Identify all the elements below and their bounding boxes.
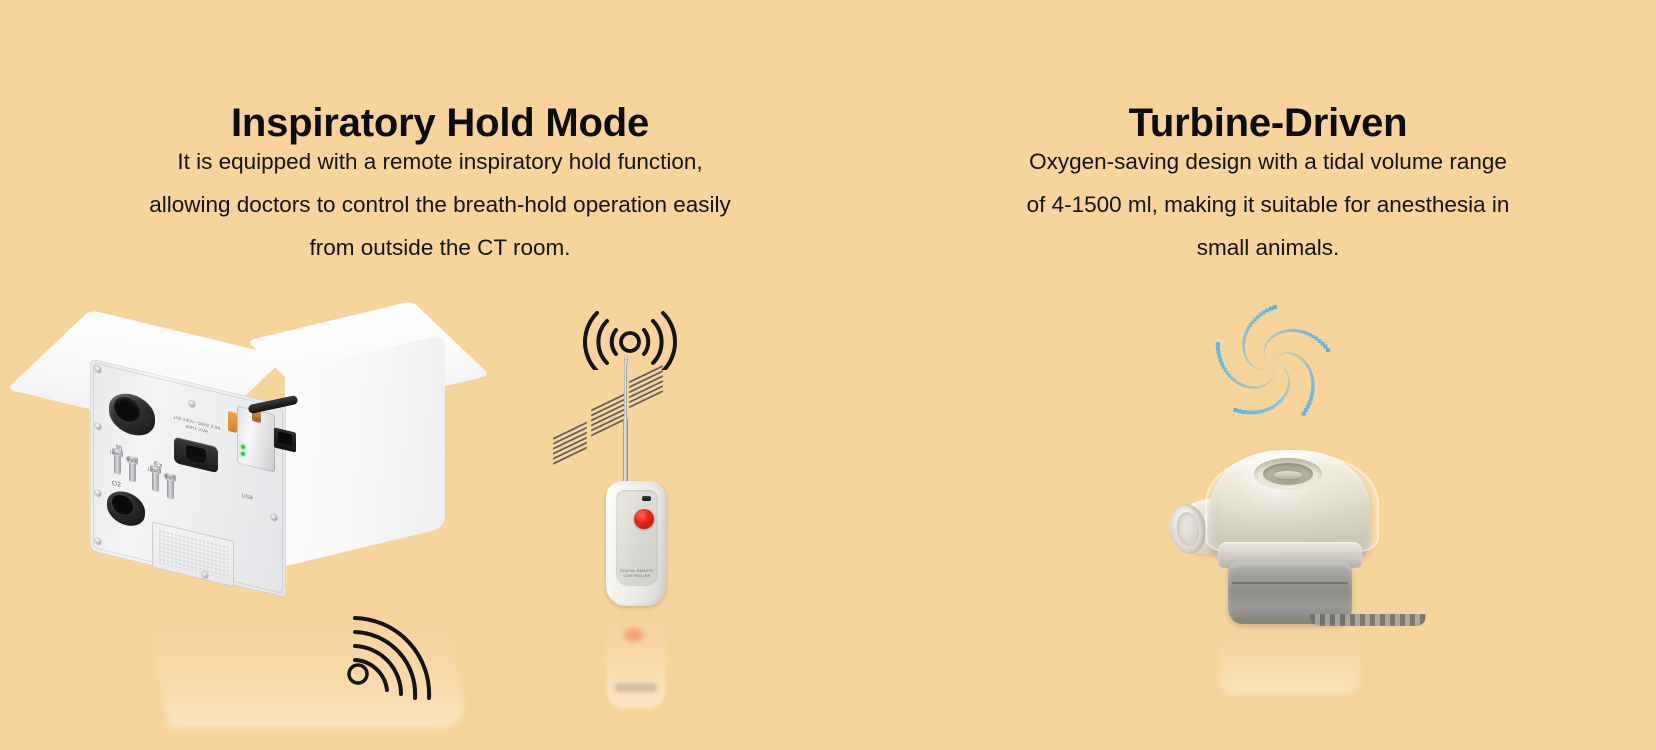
handheld-remote-photo: DIGITAL REMOTE CONTROLLER: [575, 300, 705, 630]
status-led: [241, 451, 245, 456]
remote-body: DIGITAL REMOTE CONTROLLER: [606, 481, 666, 606]
wireless-signal-icon: [580, 308, 680, 370]
rating-label: 100-240V~ 50Hz 3.0A 60Hz 3.0A: [170, 414, 224, 438]
expiratory-port: [109, 389, 155, 440]
ventilator-unit-photo: 100-240V~ 50Hz 3.0A 60Hz 3.0A In Ex Low …: [62, 300, 462, 640]
turbine-motor-base: [1228, 562, 1352, 624]
description-line: small animals.: [880, 226, 1656, 269]
oxygen-inlet-port: [107, 488, 145, 530]
turbine-reflection: [1220, 624, 1360, 694]
remote-faceplate: DIGITAL REMOTE CONTROLLER: [616, 490, 658, 586]
status-led: [241, 444, 245, 449]
airflow-swirl-icon: [1207, 300, 1337, 430]
feature-panel: Inspiratory Hold Mode It is equipped wit…: [0, 0, 1656, 750]
feature-column-inspiratory-hold: Inspiratory Hold Mode It is equipped wit…: [0, 0, 880, 750]
panel-screw: [95, 490, 101, 497]
description-line: of 4-1500 ml, making it suitable for ane…: [880, 183, 1656, 226]
panel-screw: [271, 514, 277, 521]
gas-port-label: O2: [112, 480, 121, 489]
panel-screw: [95, 538, 101, 545]
indicator-chip: [228, 411, 237, 433]
panel-screw: [95, 423, 101, 430]
remote-reflection: [606, 608, 666, 708]
telescopic-antenna-lower: [623, 418, 628, 486]
panel-screw: [95, 366, 101, 373]
usb-port-label: USB: [242, 493, 253, 502]
radio-wave-arcs-icon: [343, 598, 453, 698]
description-turbine-driven: Oxygen-saving design with a tidal volume…: [880, 140, 1656, 269]
device-illustration-area: 100-240V~ 50Hz 3.0A 60Hz 3.0A In Ex Low …: [0, 0, 880, 750]
valve-label-low: Low: [148, 466, 157, 473]
remote-brand-label: DIGITAL REMOTE CONTROLLER: [616, 569, 658, 578]
ventilator-side-face: [285, 334, 445, 566]
ventilator-panel-details: 100-240V~ 50Hz 3.0A 60Hz 3.0A In Ex Low …: [90, 358, 286, 597]
turbine-blower-photo: [1150, 290, 1440, 620]
power-inlet-socket: [174, 437, 218, 474]
panel-screw: [189, 400, 195, 407]
remote-hold-button[interactable]: [634, 509, 654, 529]
access-hatch: [152, 521, 234, 587]
description-line: Oxygen-saving design with a tidal volume…: [880, 140, 1656, 183]
valve-label-low: Low: [110, 449, 119, 456]
remote-indicator-led: [642, 496, 651, 501]
turbine-air-inlet: [1254, 458, 1322, 490]
